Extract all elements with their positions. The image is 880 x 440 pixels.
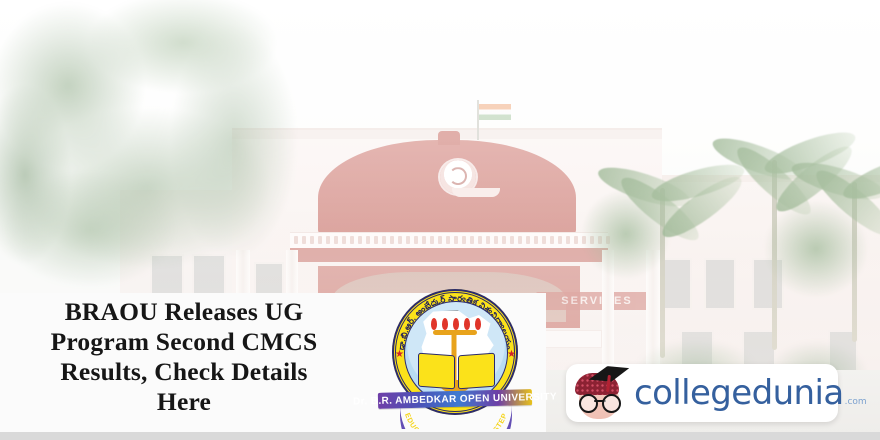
medallion-ribbon (452, 188, 500, 197)
bottom-strip (0, 432, 880, 440)
shrub (566, 174, 686, 294)
headline-line-1: BRAOU Releases UG (8, 297, 360, 327)
collegedunia-mascot-icon (572, 367, 630, 419)
dentil-row (294, 236, 604, 244)
palm-tree-group (596, 88, 880, 328)
banner-image: SERVICES (0, 0, 880, 440)
headline-line-2: Program Second CMCS (8, 327, 360, 357)
university-logo: డా.బి.ఆర్. అంబేద్కర్ సార్వత్రిక విశ్వవిద… (374, 287, 536, 440)
collegedunia-badge[interactable]: collegedunia .com (566, 364, 838, 422)
star-icon-left: ★ (395, 350, 404, 359)
svg-text:EDUCATION AT YOUR DOORSTEP: EDUCATION AT YOUR DOORSTEP (403, 412, 509, 429)
brand-name: collegedunia (634, 376, 844, 410)
lamp-flames-icon (431, 318, 481, 330)
shrub (746, 184, 880, 314)
star-icon-right: ★ (507, 350, 516, 359)
facade-red-band (290, 248, 608, 262)
glasses-icon (579, 394, 621, 410)
headline-line-4: Here (8, 387, 360, 417)
brand-tld: .com (845, 398, 867, 407)
motto-arc: EDUCATION AT YOUR DOORSTEP (400, 403, 512, 425)
logo-ribbon: Dr. B.R. AMBEDKAR OPEN UNIVERSITY EDUCAT… (374, 383, 536, 425)
headline-text: BRAOU Releases UG Program Second CMCS Re… (8, 297, 360, 417)
collegedunia-wordmark: collegedunia .com (634, 376, 867, 410)
indian-flag-icon (479, 104, 511, 120)
headline-line-3: Results, Check Details (8, 357, 360, 387)
pediment-finial (438, 131, 460, 145)
